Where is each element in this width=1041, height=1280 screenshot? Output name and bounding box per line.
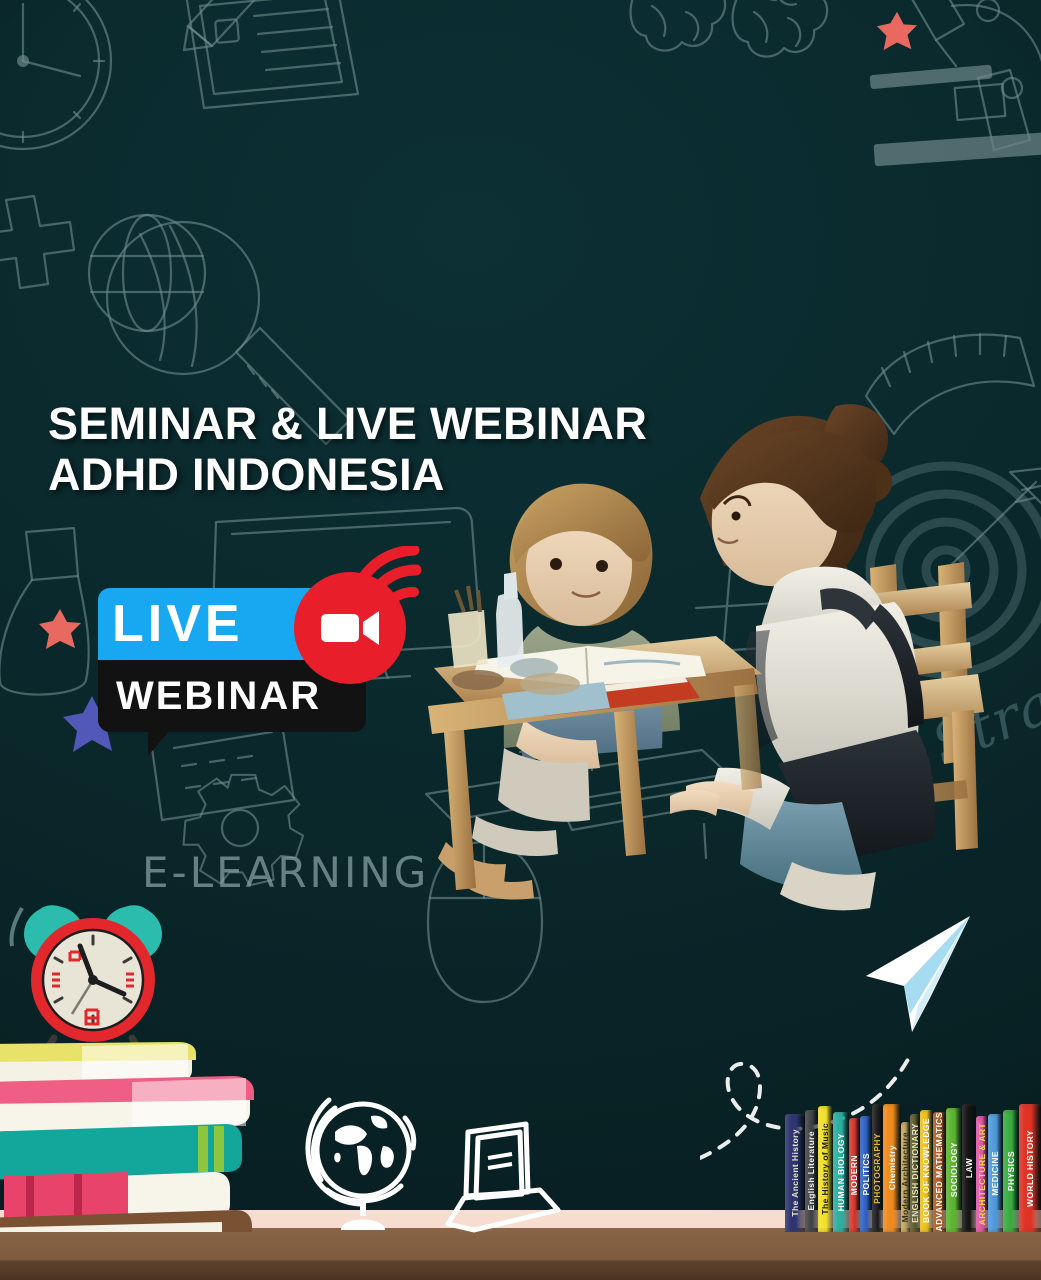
book-spine: PHYSICS xyxy=(1003,1110,1019,1232)
star-coral-icon xyxy=(38,607,82,651)
open-book-stand-chalk-icon xyxy=(440,1116,568,1236)
book-spine: WORLD HISTORY xyxy=(1019,1104,1041,1232)
badge-camera-circle[interactable] xyxy=(294,572,406,684)
book-spine: The Ancient History xyxy=(785,1114,805,1232)
clock-doodle-icon xyxy=(0,0,158,166)
book-spine: POLITICS xyxy=(860,1116,872,1232)
book-spine-title: MODERN xyxy=(850,1155,859,1195)
book-spine: SOCIOLOGY xyxy=(946,1108,962,1232)
book-spine: English Literature xyxy=(805,1110,818,1232)
book-spine: Chemistry xyxy=(883,1104,901,1232)
plus-doodle-icon xyxy=(0,192,76,292)
book-spine: The History of Music xyxy=(818,1106,833,1232)
book-spine: LAW xyxy=(962,1104,976,1232)
poster-canvas: E-LEARNING Strategy SEMINAR & LIVE WEBIN… xyxy=(0,0,1041,1280)
book-spine: MEDICINE xyxy=(988,1114,1003,1232)
book-spine-title: Modern Architecture xyxy=(901,1132,910,1222)
book-spine-title: ARCHITECTURE & ART xyxy=(978,1123,987,1225)
book-spine: ARCHITECTURE & ART xyxy=(976,1116,988,1232)
book-spine-title: WORLD HISTORY xyxy=(1026,1130,1035,1207)
book-spine-title: Chemistry xyxy=(888,1145,897,1190)
book-spine-title: HUMAN BIOLOGY xyxy=(837,1133,846,1211)
page-title: SEMINAR & LIVE WEBINAR ADHD INDONESIA xyxy=(48,398,647,501)
book-spine: ENGLISH DICTIONARY xyxy=(910,1114,920,1232)
book-spine-title: ENGLISH DICTIONARY xyxy=(911,1123,920,1223)
book-spine: HUMAN BIOLOGY xyxy=(833,1112,849,1232)
brain-doodle-icon xyxy=(620,0,870,110)
book-spine-title: PHOTOGRAPHY xyxy=(873,1133,882,1204)
live-webinar-badge[interactable]: LIVE WEBINAR xyxy=(98,588,408,763)
book-spine-title: PHYSICS xyxy=(1007,1151,1016,1191)
pencil-doodle-icon xyxy=(178,0,288,56)
star-coral-small-icon xyxy=(876,10,918,52)
paper-plane-icon xyxy=(848,910,978,1040)
book-spine-title: LAW xyxy=(965,1158,974,1178)
book-spine-title: The Ancient History xyxy=(791,1129,800,1217)
chalk-elearning-text: E-LEARNING xyxy=(142,848,429,897)
book-spine-title: SOCIOLOGY xyxy=(950,1142,959,1197)
badge-speech-tail xyxy=(148,730,170,756)
alarm-clock-icon xyxy=(8,898,178,1058)
book-spine: BOOK OF KNOWLEDGE xyxy=(920,1110,933,1232)
badge-live-label: LIVE xyxy=(98,598,244,650)
book-spine-title: English Literature xyxy=(807,1131,816,1210)
book-spine: PHOTOGRAPHY xyxy=(872,1104,883,1232)
book-spine: MODERN xyxy=(849,1118,860,1232)
globe-chalk-icon xyxy=(305,1094,430,1234)
headline-line-2: ADHD INDONESIA xyxy=(48,449,647,500)
book-spines-row: The Ancient HistoryEnglish LiteratureThe… xyxy=(785,1104,1041,1232)
video-camera-icon xyxy=(319,608,381,648)
book-spine: ADVANCED MATHEMATICS xyxy=(933,1112,946,1232)
book-spine-title: The History of Music xyxy=(821,1123,830,1215)
book-spine-title: POLITICS xyxy=(862,1153,871,1195)
stacked-books-illustration xyxy=(0,1042,272,1232)
book-spine-title: ADVANCED MATHEMATICS xyxy=(935,1112,944,1231)
book-spine: Modern Architecture xyxy=(901,1122,910,1232)
book-spine-title: MEDICINE xyxy=(991,1151,1000,1196)
headline-line-1: SEMINAR & LIVE WEBINAR xyxy=(48,398,647,449)
book-spine-title: BOOK OF KNOWLEDGE xyxy=(922,1118,931,1223)
badge-webinar-label: WEBINAR xyxy=(98,676,321,716)
